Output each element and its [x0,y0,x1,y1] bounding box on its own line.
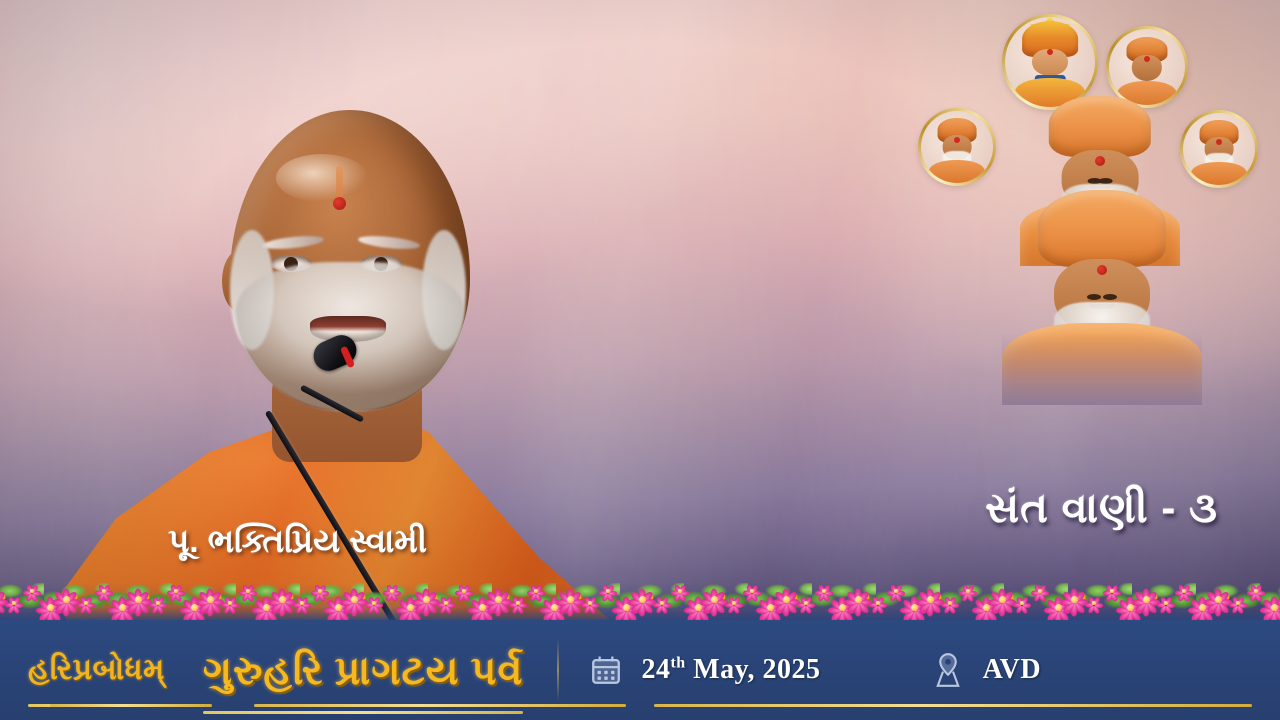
garland-flower [916,585,944,613]
flower-center [606,589,610,593]
flower-center [135,596,142,603]
guru-portrait-group [910,0,1270,420]
footer-brand-block: હરિપ્રબોધમ્ [28,653,165,687]
deity-figure [1005,17,1095,107]
flower-center [84,601,88,605]
flower-center [948,601,952,605]
tilak-dot [333,197,346,210]
flower-center [228,601,232,605]
flower-center [588,601,592,605]
guru-portrait-lower [1002,190,1202,405]
flower-center [1110,589,1114,593]
event-date-rest: May, 2025 [686,654,821,685]
garland-flower [628,585,656,613]
turban [1049,96,1151,157]
flower-center [495,596,502,603]
speaker-name-caption: પૂ. ભક્તિપ્રિય સ્વામી [168,522,427,561]
eye-right [1103,294,1117,300]
garland-flower [78,595,94,611]
garland-flower [870,595,886,611]
flower-center [1020,601,1024,605]
flower-center [894,589,898,593]
tilak-dot [1047,49,1053,55]
garland-flower [438,595,454,611]
garland-flower [124,585,152,613]
garland-flower [366,595,382,611]
garland-flower [556,585,584,613]
garland-flower [510,595,526,611]
flower-center [639,596,646,603]
flower-center [1182,589,1186,593]
series-title: સંત વાણી - ૩ [985,484,1218,533]
garland-flower [700,585,728,613]
flower-center [423,596,430,603]
garland-flower [1060,585,1088,613]
garland-flower [1132,585,1160,613]
flower-center [102,589,106,593]
garland-flower [1276,585,1280,613]
flower-petal [1276,599,1280,606]
flower-center [1038,589,1042,593]
garland-flower [1086,595,1102,611]
flower-center [966,589,970,593]
garland-flower [196,585,224,613]
footer-bar: હરિપ્રબોધમ્ ગુરુહરિ પ્રાગટય પર્વ [0,620,1280,720]
flower-center [804,601,808,605]
garland-flower [798,595,814,611]
flower-center [318,589,322,593]
flower-center [1254,589,1258,593]
flower-center [156,601,160,605]
garland-flower [988,585,1016,613]
garland-flower [484,585,512,613]
footer-event-underline [203,711,524,714]
flower-center [207,596,214,603]
flower-center [12,601,16,605]
flower-center [1143,596,1150,603]
footer-divider [557,639,559,701]
eye-right [1098,178,1112,184]
guru-figure [921,111,993,183]
flower-center [750,589,754,593]
flower-center [516,601,520,605]
flower-center [660,601,664,605]
flower-center [822,589,826,593]
garland-flower [1230,595,1246,611]
flower-center [279,596,286,603]
garland-flower [654,595,670,611]
garland-flower [582,595,598,611]
portrait-fade-out [1002,332,1202,405]
event-location: AVD [983,654,1042,686]
tilak-dot [1144,56,1150,62]
event-date: 24th May, 2025 [641,654,820,686]
flower-garland-band [0,583,1280,623]
event-date-day: 24 [641,654,670,685]
footer-brand-text: હરિપ્રબોધમ્ [28,653,165,687]
footer-rule-right [654,704,1252,707]
footer-event-text: ગુરુહરિ પ્રાગટય પર્વ [203,647,524,694]
flower-center [1164,601,1168,605]
flower-center [1071,596,1078,603]
flower-center [1236,601,1240,605]
footer-date-block: 24th May, 2025 [589,652,820,688]
event-date-ordinal: th [670,655,685,672]
flower-center [174,589,178,593]
flower-center [30,589,34,593]
eye-left [1087,294,1101,300]
flower-center [876,601,880,605]
poster-canvas: સંત વાણી - ૩ પૂ. ભક્તિપ્રિય સ્વામી હરિપ્… [0,0,1280,720]
forehead-highlight [276,154,368,202]
calendar-icon [589,652,623,688]
turban [1038,190,1166,267]
guru-figure [1183,113,1255,185]
garland-flower [6,595,22,611]
location-pin-icon [931,652,965,688]
flower-center [783,596,790,603]
garland-flower [1014,595,1030,611]
tilak-dot [1097,265,1107,275]
footer-rule-mid [254,704,626,707]
flower-center [1215,596,1222,603]
flower-center [855,596,862,603]
flower-center [372,601,376,605]
garland-flower [412,585,440,613]
tilak-dot [954,137,960,143]
tilak-dot [1216,139,1222,145]
flower-center [999,596,1006,603]
flower-center [351,596,358,603]
garland-flower [772,585,800,613]
flower-center [63,596,70,603]
garland-flower [222,595,238,611]
flower-center [927,596,934,603]
garland-flower [942,595,958,611]
garland-flower [1204,585,1232,613]
flower-center [390,589,394,593]
flower-center [246,589,250,593]
garland-flower [52,585,80,613]
guru-body [1191,162,1247,186]
footer-rule-left [50,704,212,707]
guru-figure [1109,29,1185,105]
flower-center [711,596,718,603]
garland-flower [150,595,166,611]
guru-portrait-medallion-4 [1180,110,1258,188]
flower-center [462,589,466,593]
flower-center [1092,601,1096,605]
guru-body [929,160,985,184]
garland-flower [268,585,296,613]
flower-center [534,589,538,593]
flower-center [300,601,304,605]
garland-flower [340,585,368,613]
flower-center [567,596,574,603]
garland-flower [844,585,872,613]
footer-location-block: AVD [931,652,1042,688]
flower-center [444,601,448,605]
flower-center [678,589,682,593]
garland-flower [294,595,310,611]
garland-flower [1158,595,1174,611]
footer-event-block: ગુરુહરિ પ્રાગટય પર્વ [203,647,524,694]
guru-portrait-medallion-3 [918,108,996,186]
flower-center [732,601,736,605]
tilak-dot [1095,156,1105,166]
garland-flower [726,595,742,611]
